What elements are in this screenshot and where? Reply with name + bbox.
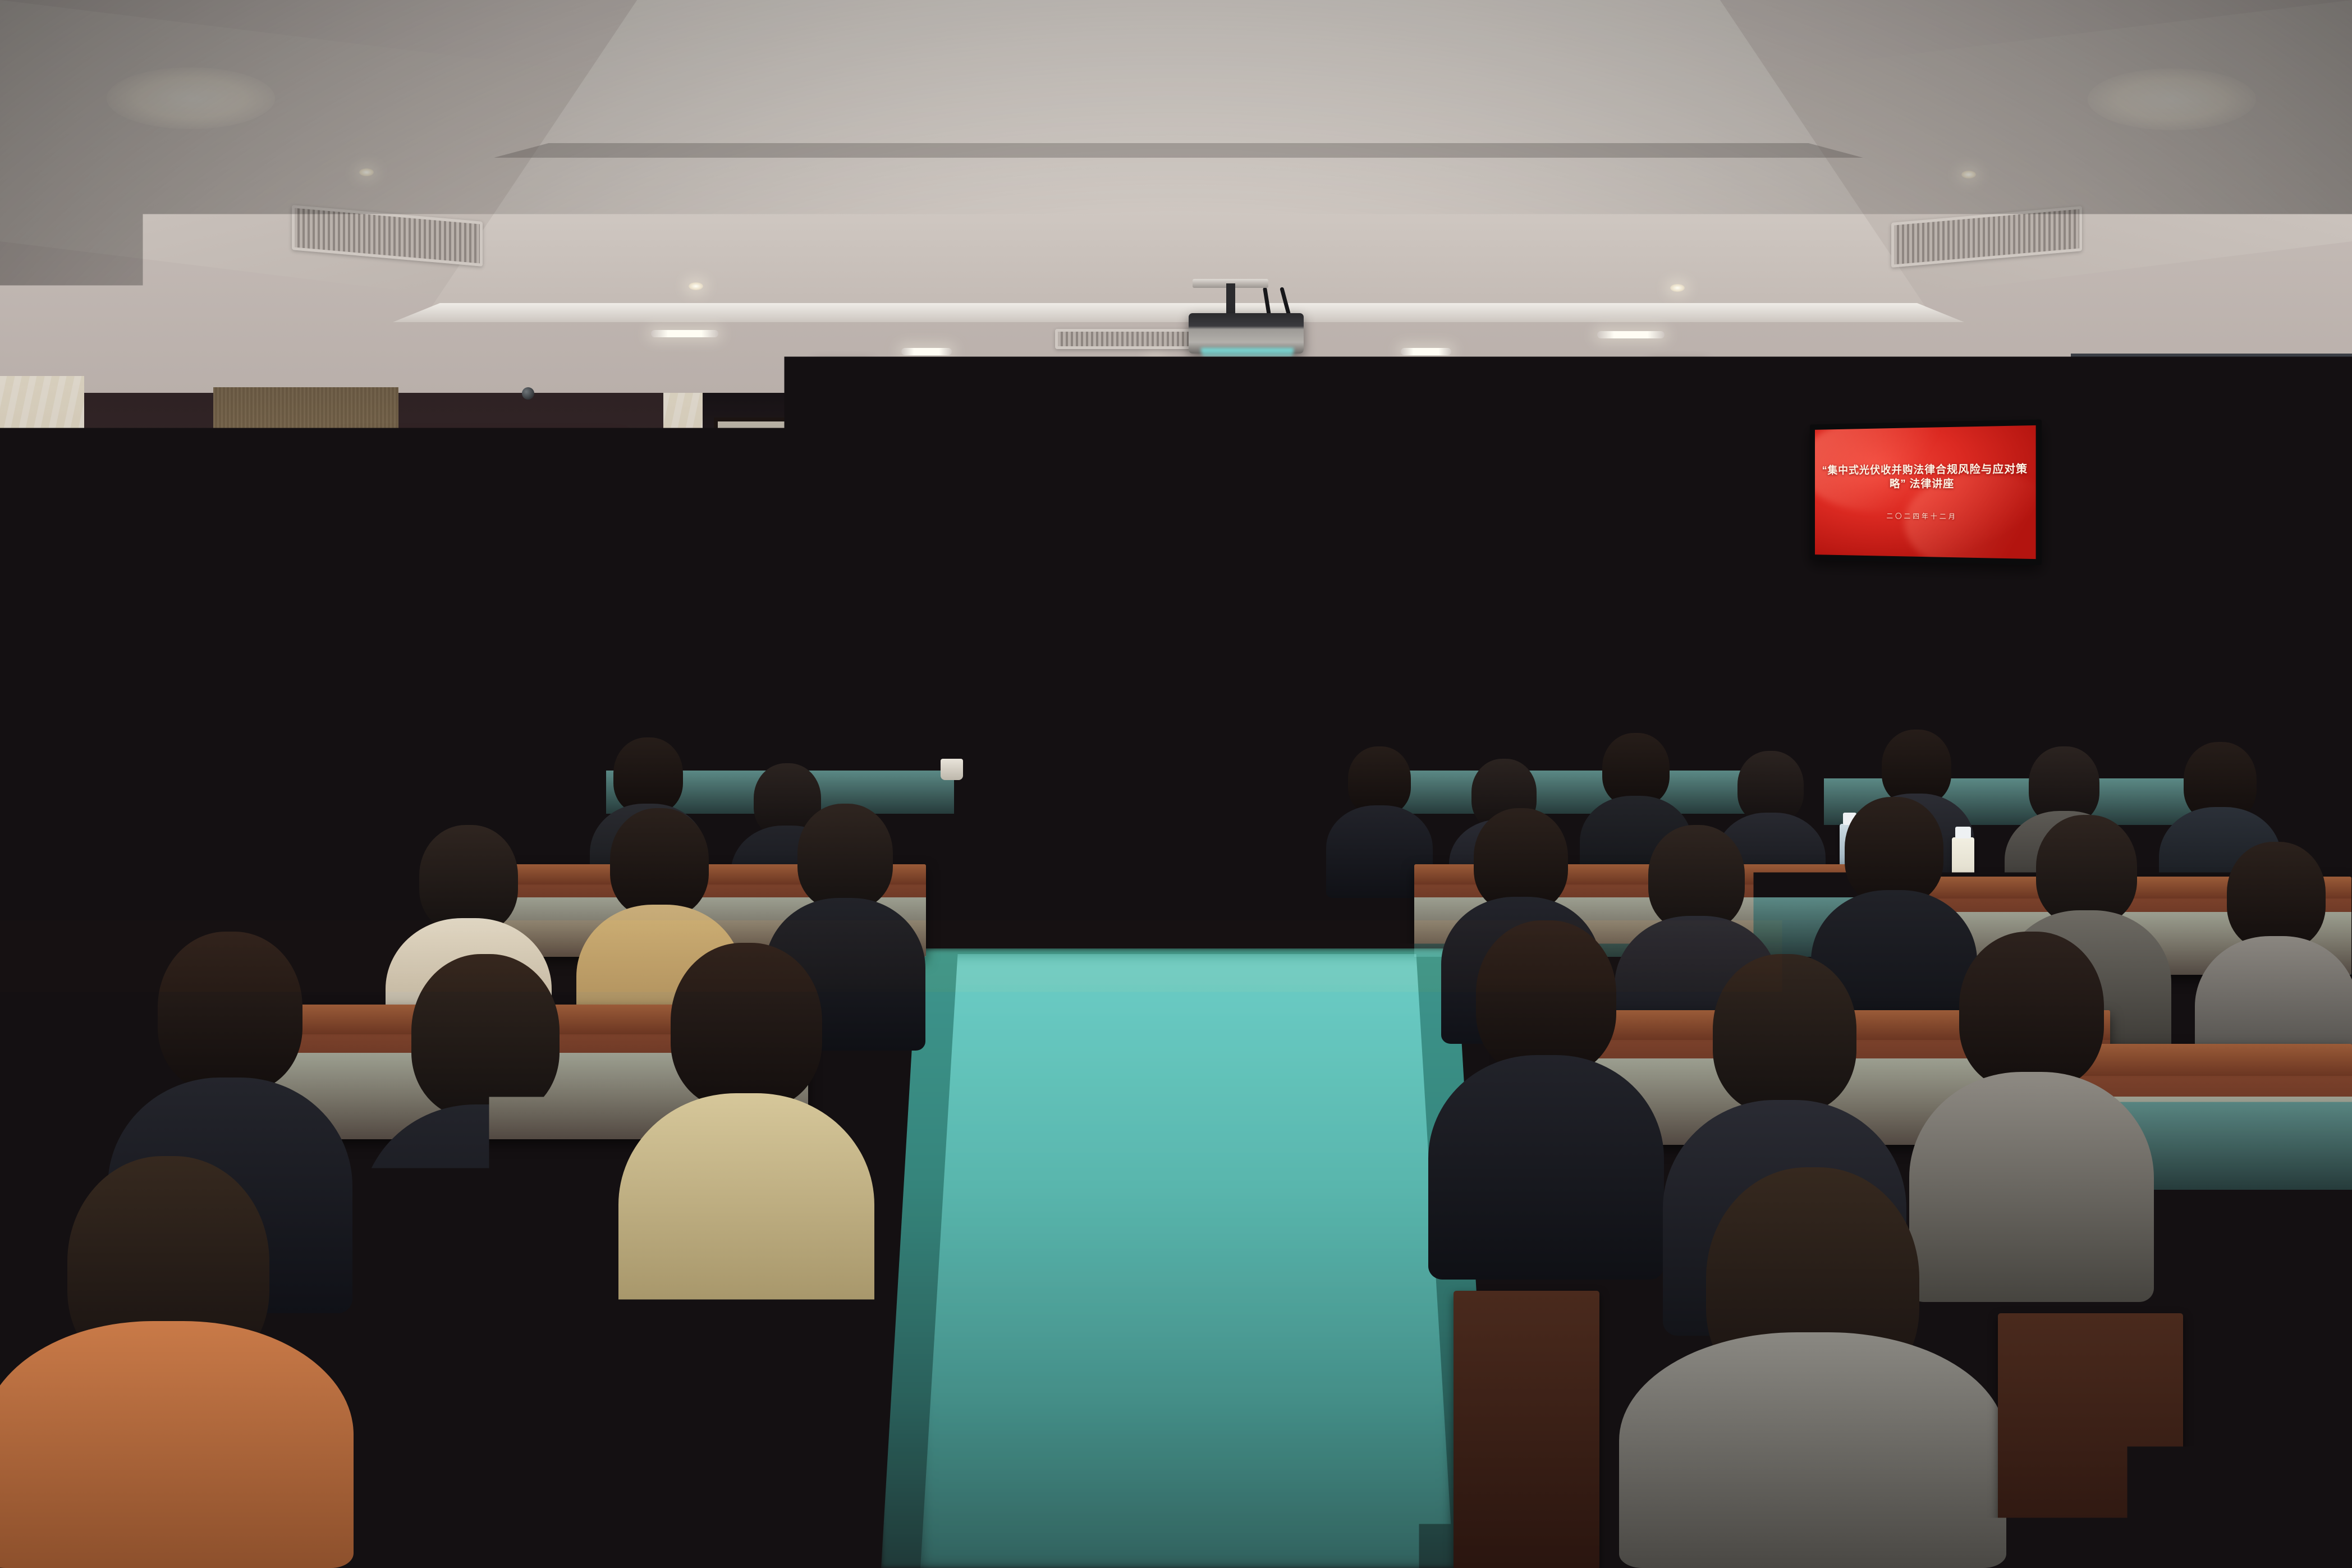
ceiling-glow-right [2088,68,2256,130]
law-firm-name-cn: 北京德恒（重庆）律师事务所 [1144,490,1261,499]
projector-lens-glow [1201,348,1294,363]
audience-member [1336,644,1397,745]
ceiling-strip-light-far-right [1401,348,1451,355]
audience-member [1437,920,1656,1280]
audience-member [1504,651,1566,755]
ceiling-downlight-1 [359,168,374,176]
ceiling-downlight-2 [689,282,703,290]
chair [1998,1313,2183,1568]
slide-status-badge-top-right: 输入信号 4K [1333,450,1419,459]
audience-member [629,943,864,1336]
wall-marble-pillar-left [0,376,84,926]
projector-mount-arm [1226,283,1235,317]
wall-tv-right: “集中式光伏收并购法律合规风险与应对策略” 法律讲座 二〇二四年十二月 [1810,419,2042,565]
slide-speaker-badge: 主讲人：杨苑 [1147,660,1233,679]
wall-speaker-left [815,359,871,410]
no-smoking-sign: 禁止吸烟 No Smoking [273,536,324,588]
projection-screen-topbar: PROJECTOR HDMI [954,422,1425,437]
lectern-top [1524,593,1665,621]
eyeglasses-icon [776,607,806,616]
law-firm-name-en: DeHeng Law Offices (Chongqing) [1144,499,1261,506]
ceiling-glow-left [107,67,275,129]
chair [1454,1291,1599,1568]
wall-tv-left: “集中式光伏收并购法律合规风险与应对策略” 法律讲座 二〇二四年十二月 [345,435,620,599]
audience-member [1414,633,1482,745]
desk-row-3-right [1381,746,1773,814]
window-light-strip [2294,494,2300,662]
wall-tv-left-date: 二〇二四年十二月 [439,540,525,552]
ceiling-downlight-5 [1148,359,1163,367]
audience-member [1671,629,1741,746]
topbar-chip-left: PROJECTOR [1160,426,1198,433]
audience-member [1639,1167,1987,1568]
topbar-chip-right: HDMI [1201,426,1219,433]
ceiling-downlight-4 [1961,171,1976,178]
wall-tv-left-screen: “集中式光伏收并购法律合规风险与应对策略” 法律讲座 二〇二四年十二月 [350,441,614,593]
ceiling-strip-light-left [651,330,718,337]
wall-tv-right-screen: “集中式光伏收并购法律合规风险与应对策略” 法律讲座 二〇二四年十二月 [1815,425,2036,559]
head-table-nameplate: 讲 [738,672,772,695]
audience-member [455,648,525,766]
slide-status-badge-bottom-left: 自动校正 [964,682,1020,690]
slide-title-line-2: 规风险与应对策略 [993,570,1386,603]
slide-logo-block: ⚖ 北京德恒（重庆）律师事务所 DeHeng Law Offices (Chon… [954,487,1425,508]
audience-member [1330,746,1428,898]
wall-tv-left-title: “集中式光伏收并购法律合规风险与应对策略” 法律讲座 [350,482,614,515]
signal-dot-icon [1337,452,1340,457]
ceiling-lower-band [393,303,1964,322]
audience-member [2026,633,2096,748]
chair [427,1347,612,1568]
paper-cup [941,759,963,780]
slide-status-badge-bottom-left-label: 自动校正 [973,683,993,689]
wall-tv-right-date: 二〇二四年十二月 [1886,511,1957,521]
ceiling-strip-light-right [1597,331,1665,338]
lecture-hall-scene: 禁止吸烟 No Smoking “集中式光伏收并购法律合规风险与应对策略” 法律… [0,0,2352,1568]
framed-acoustic-inset-left [714,418,951,522]
calibration-dot-icon [968,684,970,689]
security-camera [522,387,534,400]
ceiling-downlight-3 [1670,284,1685,292]
projector-floor-beam-core [920,954,1454,1568]
no-smoking-label-cn: 禁止吸烟 [284,569,313,578]
ceiling-strip-light-far-left [901,348,952,355]
slide-title-line-1: 集中式光伏收并购的法律合 [993,537,1386,570]
no-smoking-label-en: No Smoking [288,578,309,581]
scales-of-justice-icon: ⚖ [1119,487,1140,508]
slide-title: 集中式光伏收并购的法律合 规风险与应对策略 [993,537,1386,603]
slide-status-badge-top-right-label: 输入信号 4K [1342,451,1370,457]
chair [673,1308,842,1568]
wall-speaker-far-left [263,444,317,489]
no-smoking-icon [286,542,311,567]
framed-acoustic-inset-right [1443,416,1676,520]
wall-speaker-right [1650,359,1706,410]
ceiling-trim-band [494,143,1863,158]
wall-tv-right-title: “集中式光伏收并购法律合规风险与应对策略” 法律讲座 [1815,462,2036,491]
audience-member [1583,639,1647,748]
